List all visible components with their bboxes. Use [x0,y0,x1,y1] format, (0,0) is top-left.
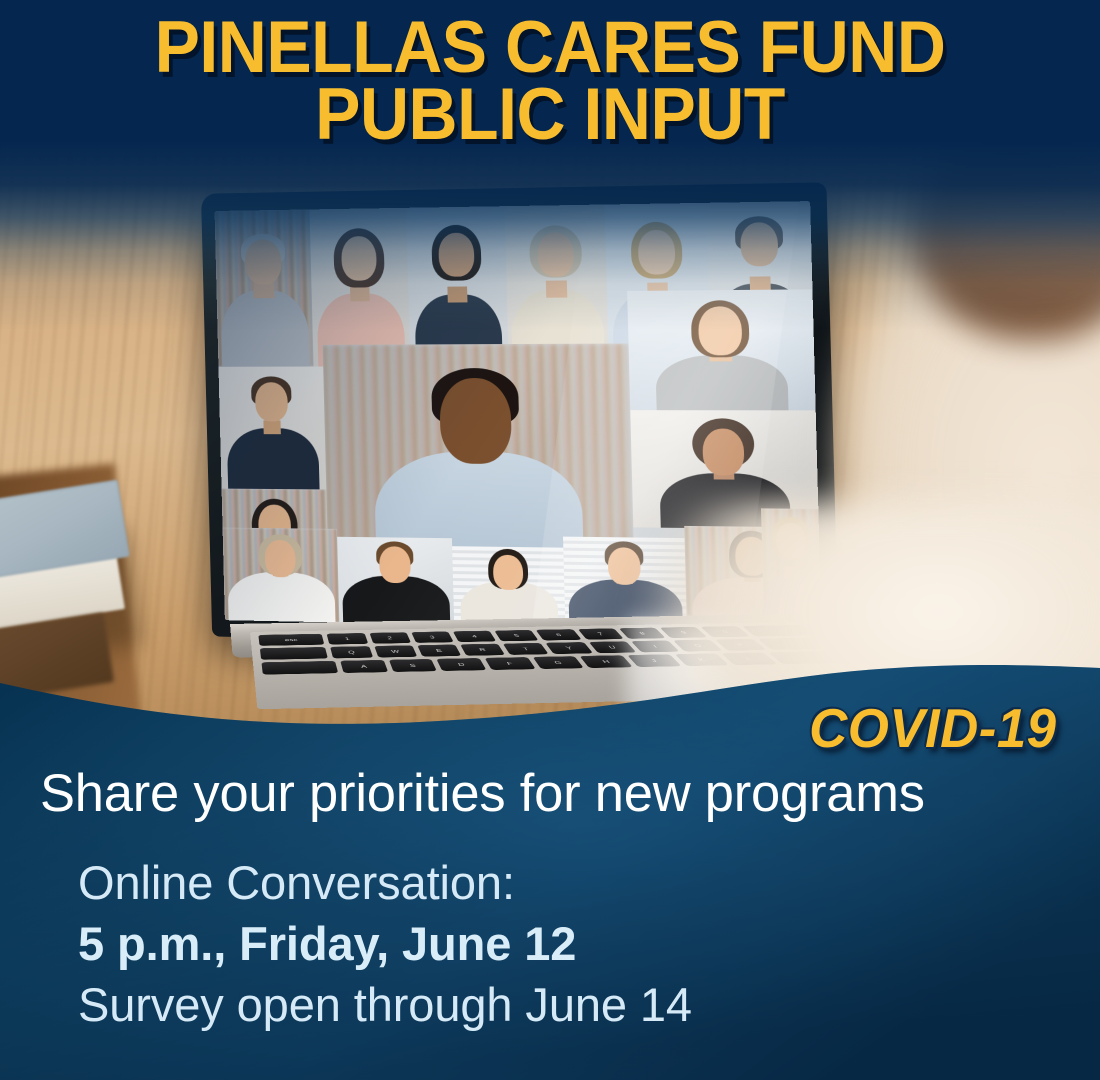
video-tile [223,528,340,623]
event-details: Online Conversation: 5 p.m., Friday, Jun… [78,852,692,1035]
detail-line-survey: Survey open through June 14 [78,974,692,1035]
key-tab [260,647,328,660]
covid-badge: COVID-19 [809,696,1056,760]
key-capslock [261,661,338,675]
key-q: Q [330,646,372,658]
video-tile-speaker [323,343,635,557]
key-t: T [503,643,549,655]
key-6: 6 [536,629,581,640]
key-h: H [580,655,633,668]
poster-canvas: esc 1 2 3 4 5 6 7 8 9 0 Q W E [0,0,1100,1080]
page-title: PINELLAS CARES FUND PUBLIC INPUT [39,14,1062,148]
detail-line-datetime: 5 p.m., Friday, June 12 [78,913,692,974]
tagline: Share your priorities for new programs [40,763,1060,824]
key-7: 7 [577,628,623,639]
key-s: S [389,659,438,672]
key-f: F [485,657,536,670]
key-y: Y [546,642,593,654]
key-w: W [374,645,417,657]
detail-line-online-conversation: Online Conversation: [78,852,692,913]
key-3: 3 [411,631,454,642]
key-e: E [417,644,461,656]
video-tile [452,546,565,627]
key-a: A [340,660,388,673]
key-2: 2 [369,632,411,643]
key-5: 5 [495,630,540,641]
key-4: 4 [453,631,497,642]
key-g: G [532,656,584,669]
key-esc: esc [258,634,324,646]
key-d: D [437,658,487,671]
video-tile [337,537,454,625]
key-1: 1 [327,633,368,645]
key-r: R [460,644,505,656]
video-tile [218,367,326,490]
